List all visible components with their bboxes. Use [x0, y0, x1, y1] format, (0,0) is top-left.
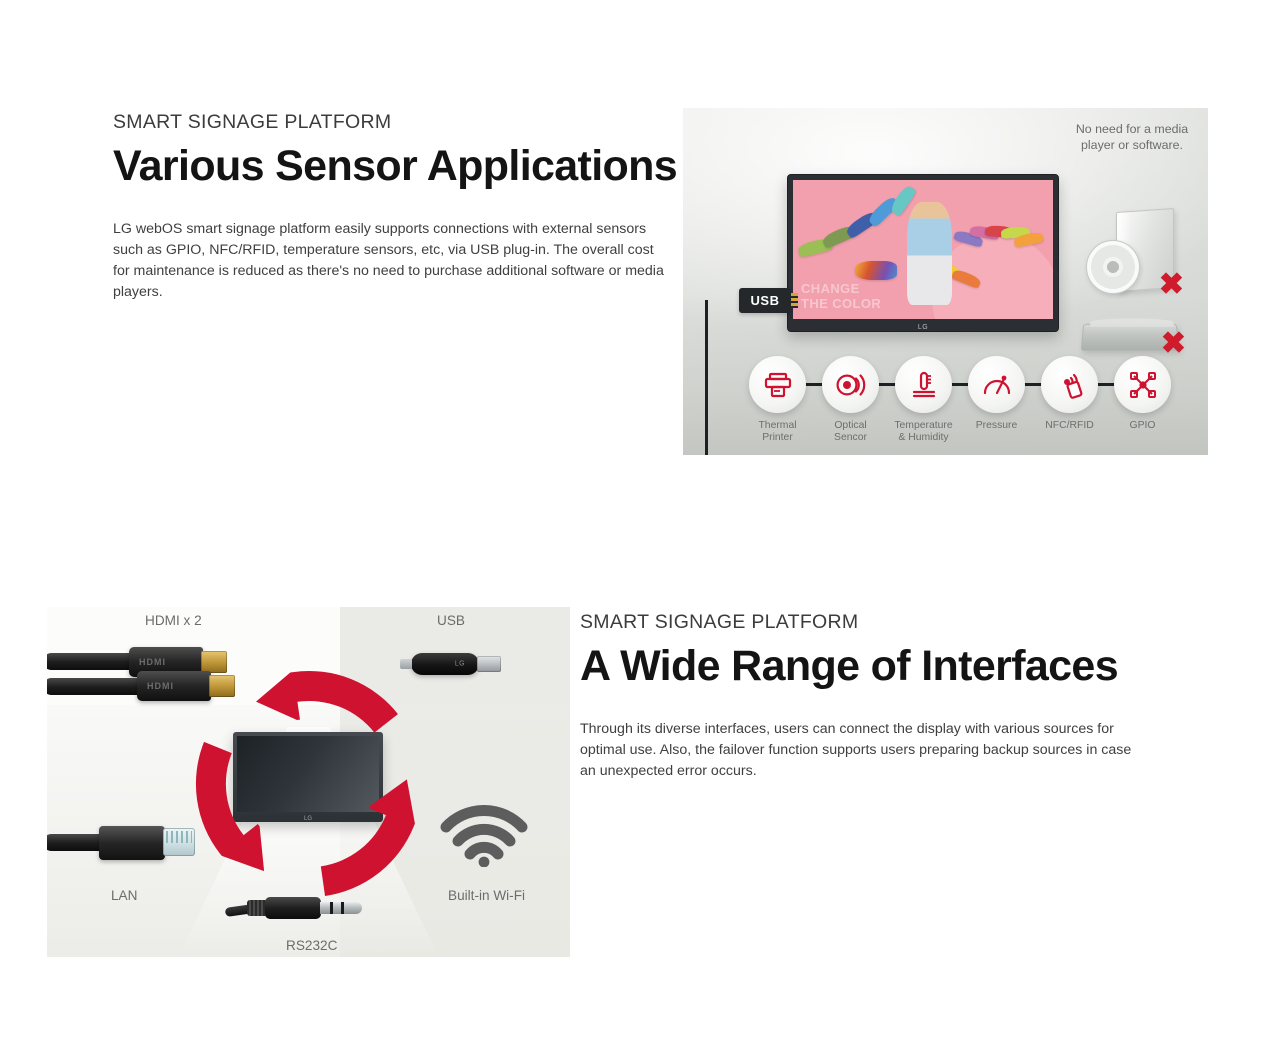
- interface-cycle-arrows: [186, 661, 432, 907]
- section-2-figure-interfaces: HDMI x 2 USB LAN RS232C Built-in Wi-Fi H…: [47, 607, 570, 957]
- usb-brand-logo: LG: [455, 661, 465, 668]
- sensor-item-thermal-printer[interactable]: Thermal Printer: [749, 356, 806, 445]
- sensor-item-optical-sensor[interactable]: Optical Sencor: [822, 356, 879, 445]
- software-disc-icon: ✖: [1086, 210, 1182, 296]
- section-1-body: LG webOS smart signage platform easily s…: [113, 219, 669, 302]
- section-1-eyebrow: SMART SIGNAGE PLATFORM: [113, 111, 673, 134]
- sensor-label: Optical Sencor: [809, 420, 893, 445]
- interface-label-usb: USB: [437, 613, 465, 628]
- usb-type-a-plug: [477, 656, 501, 672]
- sensor-item-temperature-humidity[interactable]: Temperature & Humidity: [895, 356, 952, 445]
- section-2-headline: A Wide Range of Interfaces: [580, 642, 1160, 690]
- section-2-body: Through its diverse interfaces, users ca…: [580, 719, 1142, 781]
- screen-shoe-cluster: [855, 261, 897, 280]
- exclusion-cross-icon: ✖: [1159, 270, 1184, 300]
- hdmi-wordmark: HDMI: [139, 657, 166, 667]
- display-screen: CHANGE THE COLOR: [793, 180, 1053, 319]
- lan-connector-head: [99, 826, 165, 860]
- interface-label-rs232c: RS232C: [286, 938, 337, 953]
- nfc-rfid-icon: [1041, 356, 1098, 413]
- sensor-label: NFC/RFID: [1028, 420, 1112, 432]
- no-media-player-note: No need for a media player or software.: [1070, 122, 1194, 153]
- optical-sensor-icon: [822, 356, 879, 413]
- section-2-eyebrow: SMART SIGNAGE PLATFORM: [580, 611, 1160, 634]
- thermal-printer-icon: [749, 356, 806, 413]
- interface-label-wifi: Built-in Wi-Fi: [448, 888, 525, 903]
- gpio-icon: [1114, 356, 1171, 413]
- sensor-label: Thermal Printer: [736, 420, 820, 445]
- interface-label-lan: LAN: [111, 888, 137, 903]
- sensor-item-nfc-rfid[interactable]: NFC/RFID: [1041, 356, 1098, 432]
- temperature-humidity-icon: [895, 356, 952, 413]
- sensor-item-pressure[interactable]: Pressure: [968, 356, 1025, 432]
- screen-model-figure: [907, 202, 951, 305]
- section-2-text-block: SMART SIGNAGE PLATFORM A Wide Range of I…: [580, 611, 1160, 796]
- usb-tag-label: USB: [739, 288, 791, 313]
- sensor-label: GPIO: [1101, 420, 1185, 432]
- display-brand-logo: LG: [918, 324, 928, 331]
- wifi-icon: [440, 805, 528, 872]
- hdmi-wordmark: HDMI: [147, 681, 174, 691]
- screen-overlay-line-1: CHANGE: [801, 281, 881, 296]
- section-1-headline: Various Sensor Applications: [113, 142, 673, 190]
- hdmi-cable-body: [47, 678, 151, 695]
- sensor-label: Temperature & Humidity: [882, 420, 966, 445]
- page-root: SMART SIGNAGE PLATFORM Various Sensor Ap…: [0, 0, 1280, 1055]
- section-1-text-block: SMART SIGNAGE PLATFORM Various Sensor Ap…: [113, 111, 673, 317]
- section-1-figure-sensor-applications: No need for a media player or software. …: [683, 108, 1208, 455]
- disc-shape: [1086, 240, 1140, 294]
- sensor-item-gpio[interactable]: GPIO: [1114, 356, 1171, 432]
- sensor-label: Pressure: [955, 420, 1039, 432]
- interface-label-hdmi: HDMI x 2: [145, 613, 202, 628]
- pressure-gauge-icon: [968, 356, 1025, 413]
